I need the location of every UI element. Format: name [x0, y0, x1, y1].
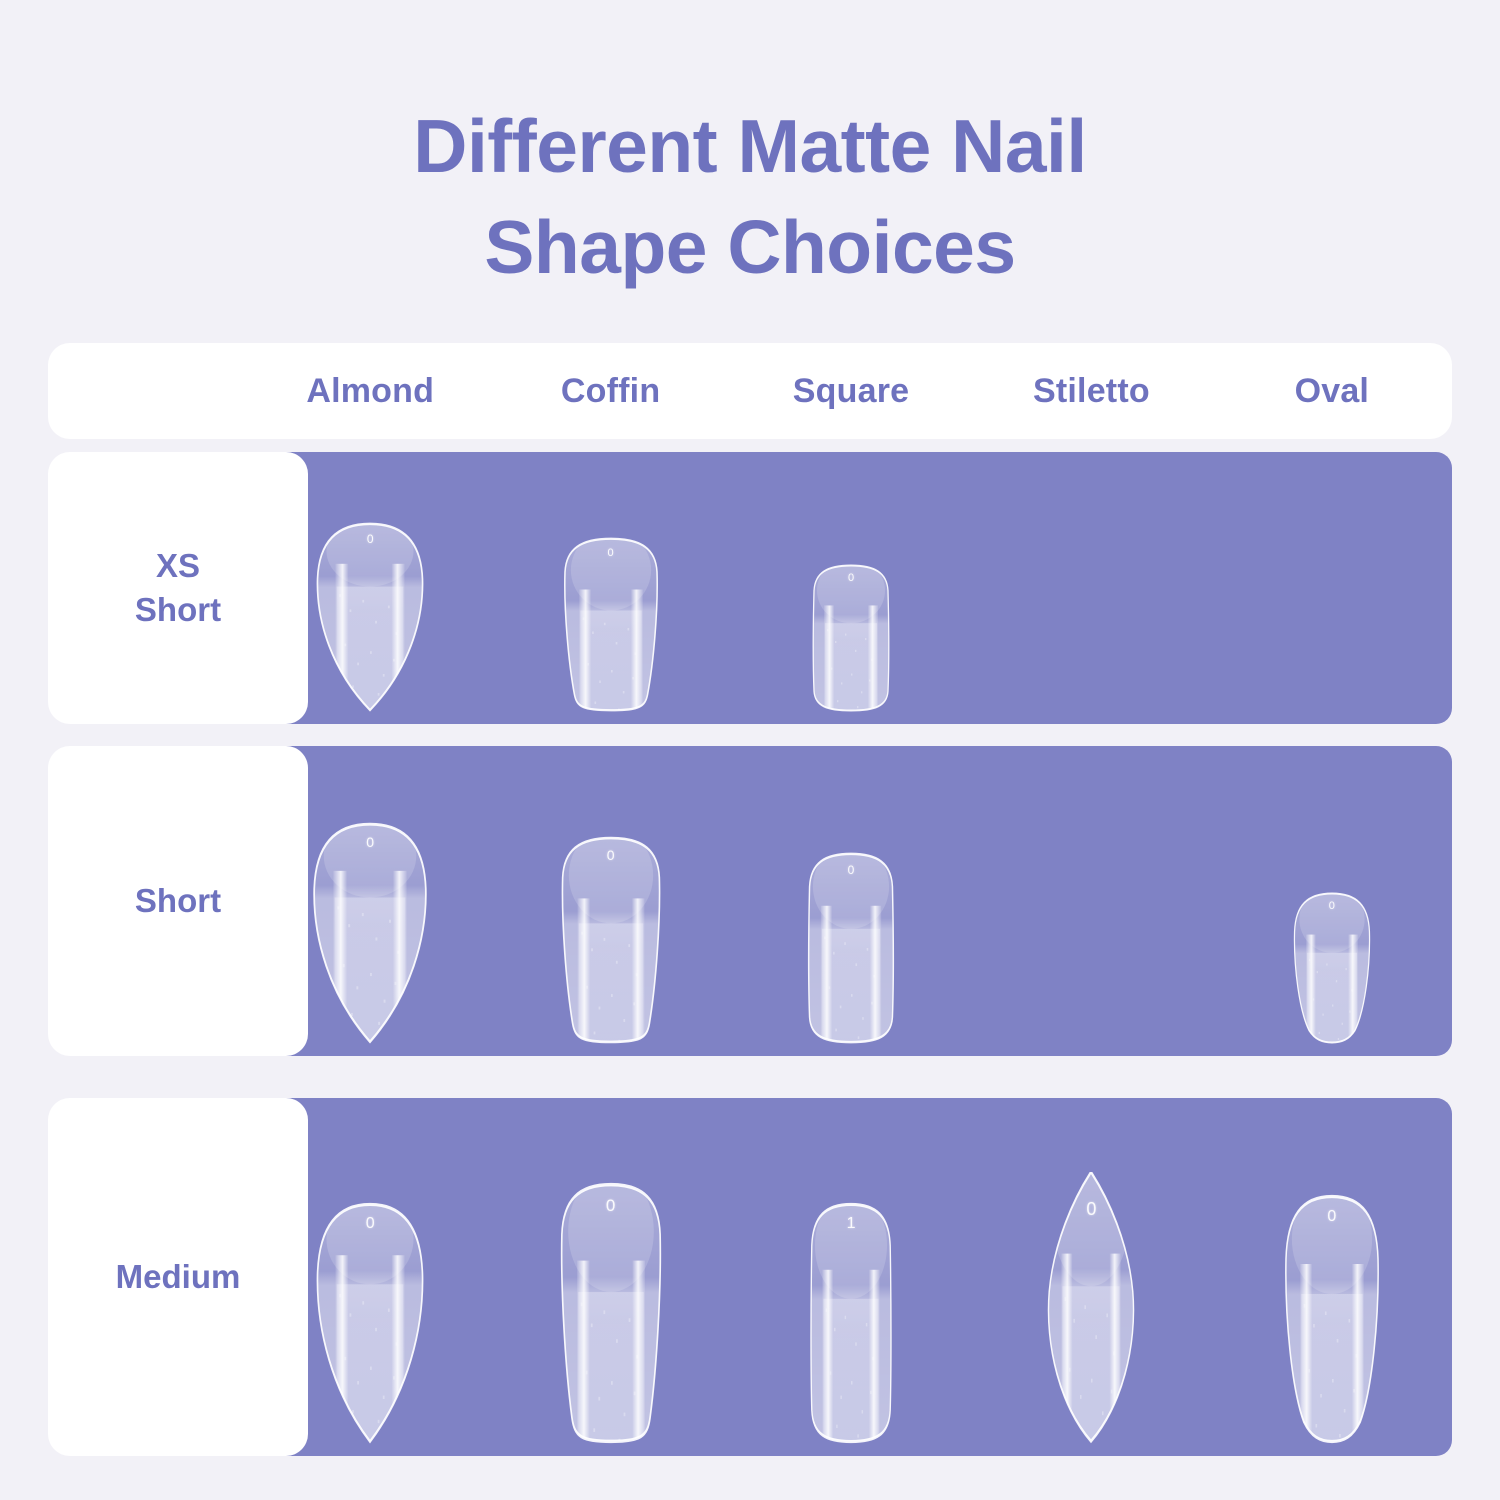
- column-header-list: Almond Coffin Square Stiletto Oval: [250, 343, 1452, 439]
- row-label-card-medium: Medium: [48, 1098, 308, 1456]
- nail-shape-oval-svg: [1284, 892, 1380, 1044]
- nail-tip-almond: 0: [306, 522, 434, 712]
- nail-shape-chart-page: Different Matte Nail Shape Choices Almon…: [0, 0, 1500, 1500]
- nail-cell-medium-stiletto: 0: [971, 1098, 1211, 1456]
- row-label-short: Short: [135, 879, 221, 923]
- column-header-card: Almond Coffin Square Stiletto Oval: [48, 343, 1452, 439]
- nail-shape-almond-svg: [306, 522, 434, 712]
- column-header-oval: Oval: [1212, 372, 1452, 411]
- page-title-line-2: Shape Choices: [0, 197, 1500, 298]
- nail-cell-medium-square: 1: [731, 1098, 971, 1456]
- nail-shape-almond-svg: [306, 1202, 434, 1444]
- nail-tip-almond: 0: [306, 1202, 434, 1444]
- nail-cell-medium-coffin: 0: [490, 1098, 730, 1456]
- nail-cell-xs-coffin: 0: [490, 452, 730, 724]
- row-strip-short: 0 0 0 0: [250, 746, 1452, 1056]
- nail-tip-square: 0: [801, 564, 901, 712]
- nail-cell-short-stiletto: [971, 746, 1211, 1056]
- size-row-xs-short: XS Short 0 0 0: [48, 452, 1452, 724]
- nail-shape-coffin-svg: [549, 836, 673, 1044]
- nail-shape-almond-svg: [302, 822, 438, 1044]
- nail-tip-oval: 0: [1284, 892, 1380, 1044]
- page-title-line-1: Different Matte Nail: [0, 96, 1500, 197]
- nail-tip-oval: 0: [1273, 1194, 1391, 1444]
- size-row-short: Short 0 0 0 0: [48, 746, 1452, 1056]
- nail-cell-medium-oval: 0: [1212, 1098, 1452, 1456]
- nail-tip-square: 0: [795, 852, 907, 1044]
- nail-shape-coffin-svg: [552, 537, 670, 712]
- row-label-xs-short: XS Short: [135, 544, 221, 632]
- nail-tip-square: 1: [798, 1202, 904, 1444]
- nail-tip-coffin: 0: [548, 1182, 674, 1444]
- nail-shape-stiletto-svg: [1036, 1172, 1146, 1444]
- nail-tip-stiletto: 0: [1036, 1172, 1146, 1444]
- nail-shape-coffin-svg: [548, 1182, 674, 1444]
- nail-cell-short-coffin: 0: [490, 746, 730, 1056]
- nail-shape-square-svg: [795, 852, 907, 1044]
- column-header-square: Square: [731, 372, 971, 411]
- row-label-card-xs-short: XS Short: [48, 452, 308, 724]
- column-header-coffin: Coffin: [490, 372, 730, 411]
- nail-cell-short-square: 0: [731, 746, 971, 1056]
- nail-tip-coffin: 0: [549, 836, 673, 1044]
- row-strip-xs-short: 0 0 0: [250, 452, 1452, 724]
- nail-shape-square-svg: [798, 1202, 904, 1444]
- row-strip-medium: 0 0 1 0 0: [250, 1098, 1452, 1456]
- row-label-card-short: Short: [48, 746, 308, 1056]
- nail-cell-xs-square: 0: [731, 452, 971, 724]
- page-title: Different Matte Nail Shape Choices: [0, 96, 1500, 298]
- column-header-almond: Almond: [250, 372, 490, 411]
- nail-cell-short-oval: 0: [1212, 746, 1452, 1056]
- row-label-medium: Medium: [116, 1255, 241, 1299]
- nail-shape-oval-svg: [1273, 1194, 1391, 1444]
- size-row-medium: Medium 0 0 1 0 0: [48, 1098, 1452, 1456]
- nail-tip-coffin: 0: [552, 537, 670, 712]
- nail-shape-square-svg: [801, 564, 901, 712]
- nail-cell-xs-stiletto: [971, 452, 1211, 724]
- nail-cell-xs-oval: [1212, 452, 1452, 724]
- column-header-stiletto: Stiletto: [971, 372, 1211, 411]
- nail-tip-almond: 0: [302, 822, 438, 1044]
